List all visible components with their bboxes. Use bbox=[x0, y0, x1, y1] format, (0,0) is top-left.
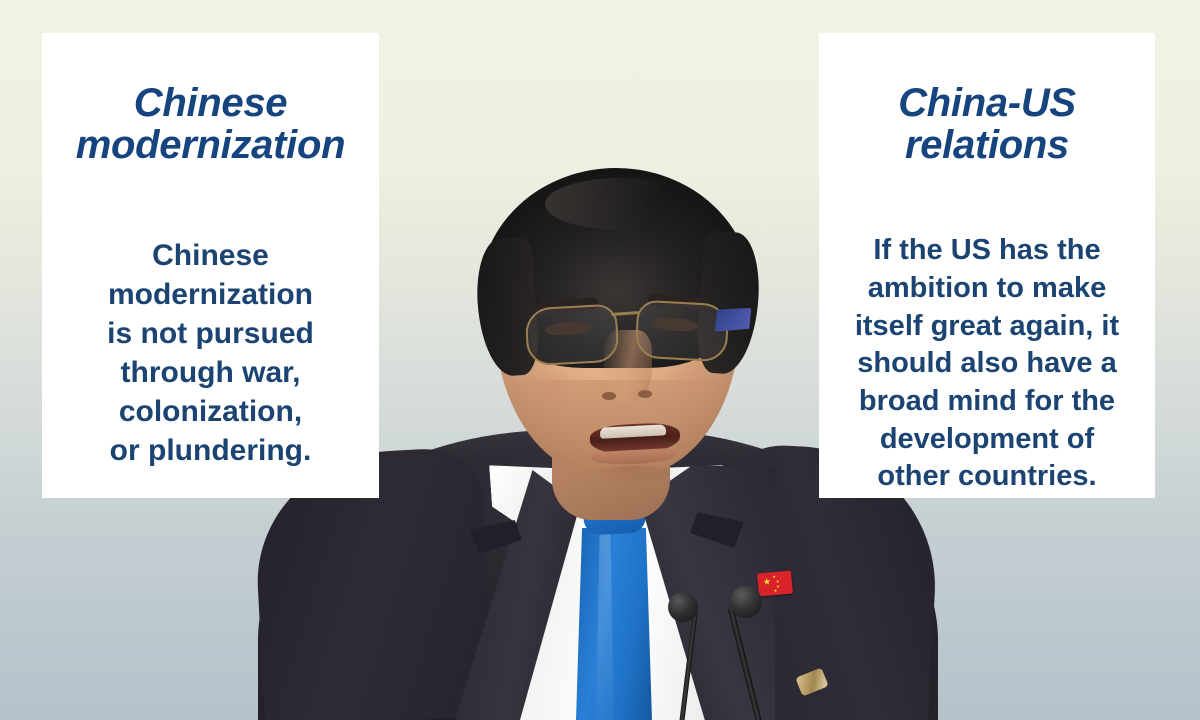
nostril-left bbox=[602, 392, 616, 400]
quote-card-chinese-modernization: Chinese modernization Chinese modernizat… bbox=[42, 33, 379, 498]
chin-shadow bbox=[588, 466, 680, 486]
quote-card-text: Chinese modernization is not pursued thr… bbox=[107, 236, 314, 470]
flag-large-star: ★ bbox=[762, 577, 771, 587]
nostril-right bbox=[638, 390, 652, 398]
microphone-head-left bbox=[668, 592, 698, 622]
quote-card-text: If the US has the ambition to make itsel… bbox=[855, 232, 1119, 496]
hair-sideburn-left bbox=[473, 236, 540, 378]
graphic-canvas: ★ ★ ★ ★ ★ Chinese modernization Chinese … bbox=[0, 0, 1200, 720]
hair-highlight bbox=[545, 178, 695, 230]
quote-card-china-us-relations: China-US relations If the US has the amb… bbox=[819, 33, 1155, 498]
flag-small-star-4: ★ bbox=[773, 589, 777, 593]
necktie-body bbox=[576, 528, 652, 720]
quote-card-heading: Chinese modernization bbox=[76, 83, 345, 166]
quote-card-heading: China-US relations bbox=[898, 83, 1076, 166]
eyeglasses-lens-left bbox=[525, 304, 620, 367]
microphone-head-right bbox=[730, 586, 762, 618]
china-flag-lapel-pin-icon: ★ ★ ★ ★ ★ bbox=[757, 571, 793, 597]
